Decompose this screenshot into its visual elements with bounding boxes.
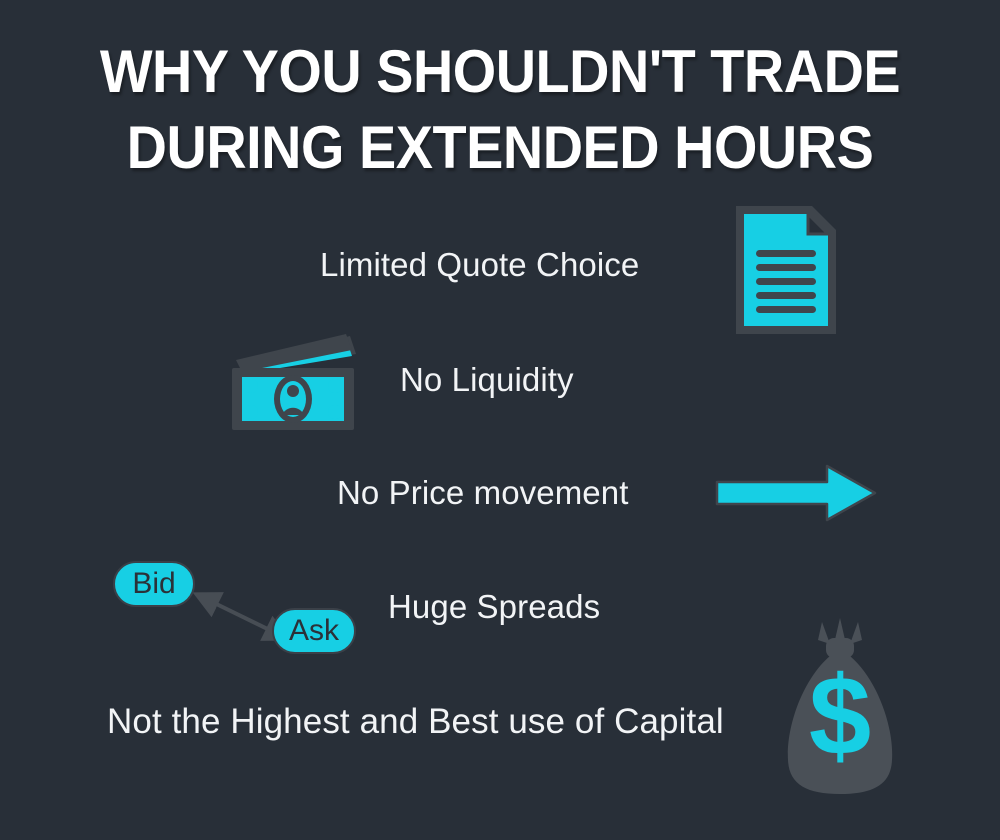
right-arrow-icon bbox=[715, 462, 879, 528]
reason-label-highest-best-use-of-capital: Not the Highest and Best use of Capital bbox=[107, 702, 724, 742]
page-title: WHY YOU SHOULDN'T TRADE DURING EXTENDED … bbox=[0, 34, 1000, 186]
money-bag-icon: $ bbox=[780, 618, 900, 804]
document-icon bbox=[730, 200, 842, 344]
reason-label-no-liquidity: No Liquidity bbox=[400, 360, 574, 400]
banknote-icon bbox=[222, 330, 362, 439]
infographic-canvas: WHY YOU SHOULDN'T TRADE DURING EXTENDED … bbox=[0, 0, 1000, 840]
ask-pill[interactable]: Ask bbox=[272, 608, 356, 654]
bid-pill[interactable]: Bid bbox=[113, 561, 195, 607]
ask-label: Ask bbox=[289, 614, 339, 648]
reason-label-no-price-movement: No Price movement bbox=[337, 473, 628, 513]
title-line-1: WHY YOU SHOULDN'T TRADE bbox=[35, 34, 965, 110]
svg-text:$: $ bbox=[809, 653, 871, 778]
reason-label-limited-quote-choice: Limited Quote Choice bbox=[320, 245, 639, 285]
title-line-2: DURING EXTENDED HOURS bbox=[35, 110, 965, 186]
reason-label-huge-spreads: Huge Spreads bbox=[388, 587, 600, 627]
bid-label: Bid bbox=[132, 567, 175, 601]
